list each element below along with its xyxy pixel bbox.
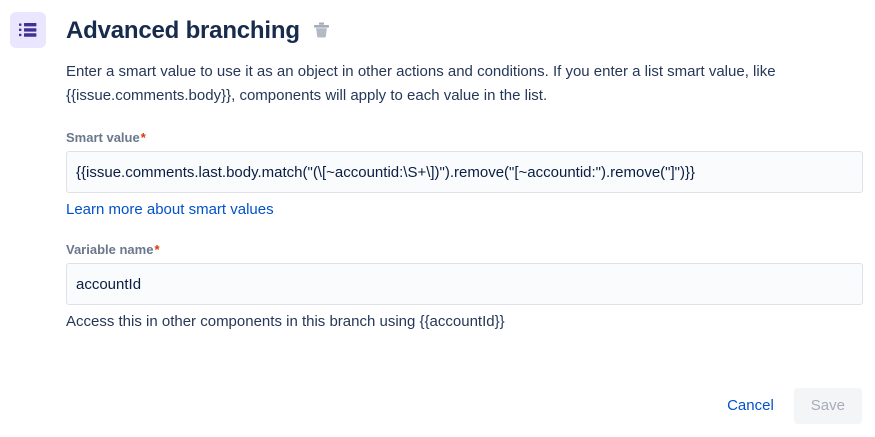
- title-area: Advanced branching: [66, 12, 333, 50]
- learn-more-smart-values-link[interactable]: Learn more about smart values: [66, 200, 274, 220]
- cancel-button[interactable]: Cancel: [719, 388, 782, 424]
- variable-name-field-group: Variable name* Access this in other comp…: [66, 242, 863, 332]
- advanced-branching-panel: Advanced branching Enter a smart value t…: [0, 0, 875, 437]
- variable-name-label: Variable name*: [66, 242, 863, 258]
- smart-value-field-group: Smart value* Learn more about smart valu…: [66, 130, 863, 220]
- variable-name-input[interactable]: [66, 263, 863, 305]
- save-button[interactable]: Save: [794, 388, 862, 424]
- variable-name-label-text: Variable name: [66, 242, 153, 257]
- smart-value-label: Smart value*: [66, 130, 863, 146]
- required-marker: *: [141, 130, 146, 145]
- trash-icon[interactable]: [311, 20, 333, 42]
- variable-name-helper-text: Access this in other components in this …: [66, 312, 863, 332]
- smart-value-label-text: Smart value: [66, 130, 140, 145]
- page-title: Advanced branching: [66, 17, 300, 45]
- smart-value-input[interactable]: [66, 151, 863, 193]
- description-text: Enter a smart value to use it as an obje…: [66, 60, 862, 108]
- panel-footer: Cancel Save: [719, 388, 862, 424]
- bullet-list-icon: [10, 12, 46, 48]
- required-marker: *: [154, 242, 159, 257]
- panel-content: Enter a smart value to use it as an obje…: [66, 60, 863, 332]
- panel-header: Advanced branching: [10, 12, 333, 50]
